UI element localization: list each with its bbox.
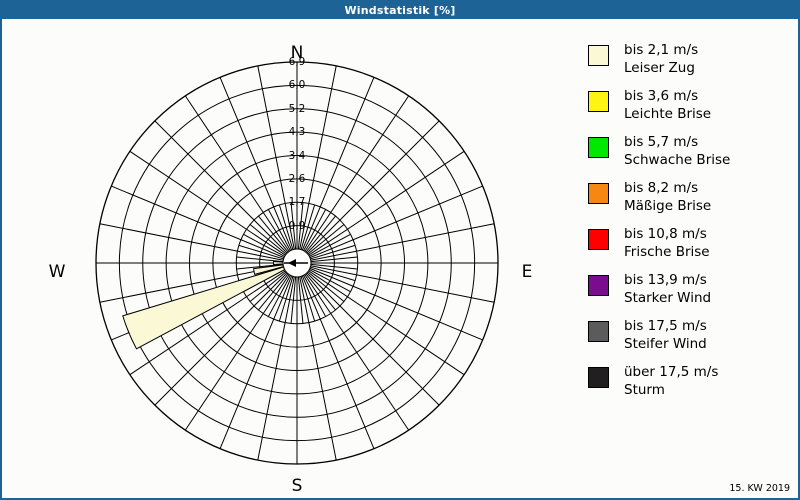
legend-label: bis 13,9 m/sStarker Wind — [624, 271, 711, 307]
legend: bis 2,1 m/sLeiser Zugbis 3,6 m/sLeichte … — [588, 45, 793, 413]
wind-rose-plot: N S W E 0,91,72,63,44,35,26,06,9 — [2, 19, 568, 500]
legend-color-swatch — [588, 183, 609, 204]
wind-rose-wedge — [274, 261, 284, 264]
legend-item: bis 5,7 m/sSchwache Brise — [588, 137, 793, 183]
radial-tick-label: 4,3 — [282, 126, 312, 138]
legend-item: bis 2,1 m/sLeiser Zug — [588, 45, 793, 91]
legend-color-swatch — [588, 45, 609, 66]
page-title: Windstatistik [%] — [344, 4, 455, 17]
rose-data-group — [123, 261, 285, 348]
legend-speed-range: bis 8,2 m/s — [624, 179, 711, 197]
legend-beaufort-name: Schwache Brise — [624, 151, 730, 169]
legend-speed-range: bis 3,6 m/s — [624, 87, 711, 105]
rose-hub-group — [283, 249, 311, 277]
legend-item: bis 8,2 m/sMäßige Brise — [588, 183, 793, 229]
legend-speed-range: über 17,5 m/s — [624, 363, 718, 381]
legend-speed-range: bis 5,7 m/s — [624, 133, 730, 151]
legend-color-swatch — [588, 137, 609, 158]
legend-beaufort-name: Leichte Brise — [624, 105, 711, 123]
legend-beaufort-name: Starker Wind — [624, 289, 711, 307]
legend-color-swatch — [588, 321, 609, 342]
legend-label: bis 10,8 m/sFrische Brise — [624, 225, 710, 261]
legend-beaufort-name: Frische Brise — [624, 243, 710, 261]
grid-spoke — [155, 121, 287, 253]
window-title-bar: Windstatistik [%] — [2, 2, 798, 19]
legend-label: bis 5,7 m/sSchwache Brise — [624, 133, 730, 169]
legend-speed-range: bis 2,1 m/s — [624, 41, 698, 59]
legend-color-swatch — [588, 275, 609, 296]
radial-tick-label: 3,4 — [282, 150, 312, 162]
compass-label-west: W — [37, 262, 77, 282]
legend-beaufort-name: Leiser Zug — [624, 59, 698, 77]
grid-spoke — [307, 273, 439, 405]
radial-tick-label: 6,9 — [282, 56, 312, 68]
legend-beaufort-name: Mäßige Brise — [624, 197, 711, 215]
legend-color-swatch — [588, 229, 609, 250]
legend-label: bis 8,2 m/sMäßige Brise — [624, 179, 711, 215]
legend-label: bis 2,1 m/sLeiser Zug — [624, 41, 698, 77]
radial-tick-label: 0,9 — [282, 220, 312, 232]
compass-label-east: E — [507, 262, 547, 282]
legend-item: über 17,5 m/sSturm — [588, 367, 793, 413]
grid-spoke — [307, 121, 439, 253]
legend-beaufort-name: Steifer Wind — [624, 335, 707, 353]
radial-tick-label: 2,6 — [282, 173, 312, 185]
radial-tick-label: 5,2 — [282, 103, 312, 115]
footer-date: 15. KW 2019 — [729, 483, 790, 494]
legend-color-swatch — [588, 367, 609, 388]
legend-speed-range: bis 10,8 m/s — [624, 225, 710, 243]
legend-speed-range: bis 17,5 m/s — [624, 317, 707, 335]
windrose-window: Windstatistik [%] N S W E 0,91,72,63,44,… — [0, 0, 800, 500]
legend-label: bis 3,6 m/sLeichte Brise — [624, 87, 711, 123]
legend-item: bis 17,5 m/sSteifer Wind — [588, 321, 793, 367]
legend-speed-range: bis 13,9 m/s — [624, 271, 711, 289]
radial-tick-label: 6,0 — [282, 79, 312, 91]
legend-color-swatch — [588, 91, 609, 112]
legend-label: bis 17,5 m/sSteifer Wind — [624, 317, 707, 353]
legend-item: bis 3,6 m/sLeichte Brise — [588, 91, 793, 137]
legend-label: über 17,5 m/sSturm — [624, 363, 718, 399]
legend-item: bis 13,9 m/sStarker Wind — [588, 275, 793, 321]
legend-beaufort-name: Sturm — [624, 381, 718, 399]
legend-item: bis 10,8 m/sFrische Brise — [588, 229, 793, 275]
radial-tick-label: 1,7 — [282, 196, 312, 208]
compass-label-south: S — [277, 476, 317, 496]
